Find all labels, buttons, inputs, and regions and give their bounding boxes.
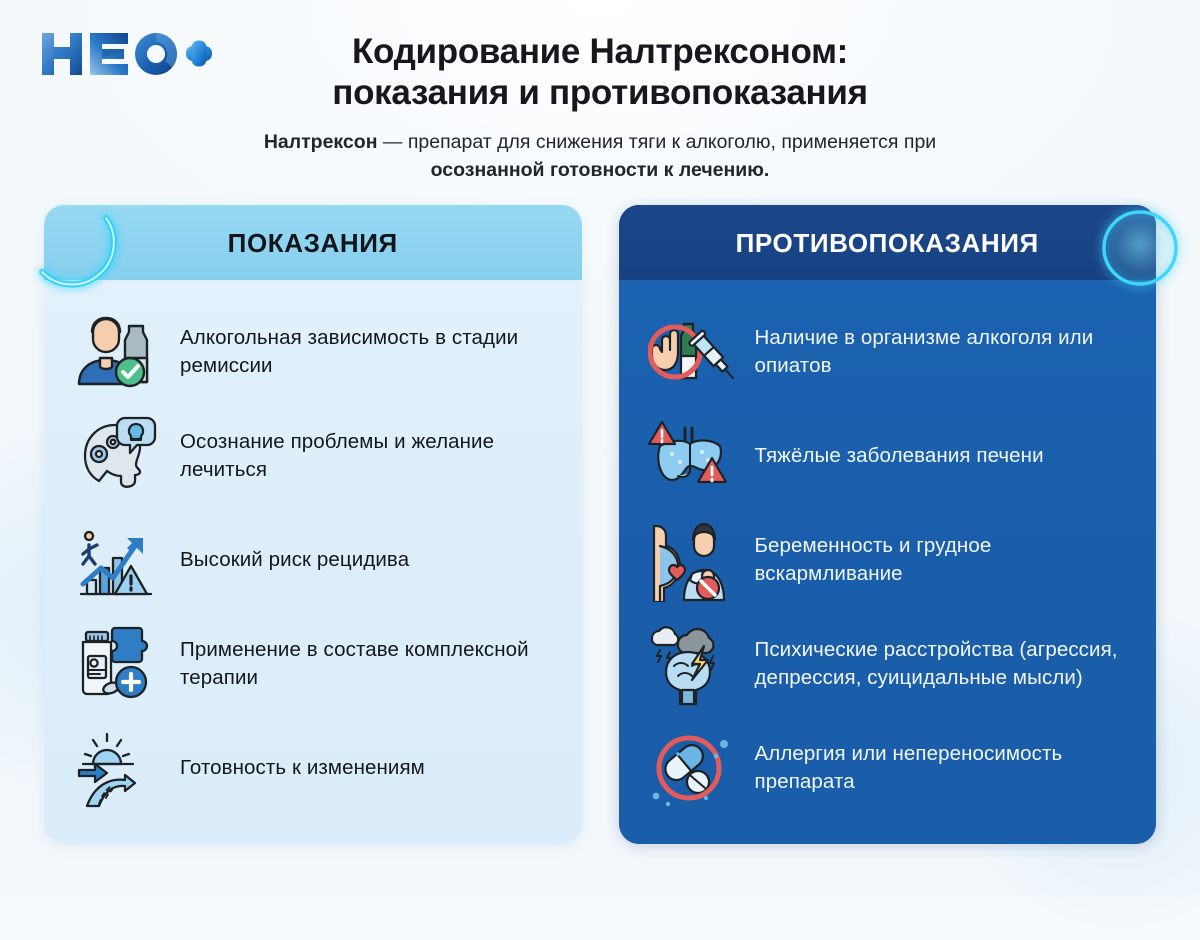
list-item: Психические расстройства (агрессия, депр… bbox=[645, 612, 1131, 716]
contraindications-list: Наличие в организме алкоголя или опиатов bbox=[619, 280, 1157, 844]
indications-card: ПОКАЗАНИЯ bbox=[44, 205, 582, 844]
list-item-label: Тяжёлые заболевания печени bbox=[755, 442, 1044, 470]
no-alcohol-syringe-icon bbox=[645, 309, 737, 395]
list-item: Беременность и грудное вскармливание bbox=[645, 508, 1131, 612]
page-title-line-2: показания и противопоказания bbox=[150, 73, 1050, 114]
liver-warning-icon bbox=[645, 413, 737, 499]
list-item-label: Наличие в организме алкоголя или опиатов bbox=[755, 324, 1131, 380]
comparison-cards: ПОКАЗАНИЯ bbox=[0, 205, 1200, 844]
pregnancy-breastfeeding-icon bbox=[645, 517, 737, 603]
medicine-puzzle-plus-icon bbox=[70, 621, 162, 707]
list-item-label: Беременность и грудное вскармливание bbox=[755, 532, 1131, 588]
list-item: Тяжёлые заболевания печени bbox=[645, 404, 1131, 508]
brand-logo bbox=[36, 24, 214, 84]
list-item-label: Аллергия или непереносимость препарата bbox=[755, 740, 1131, 796]
list-item: Алкогольная зависимость в стадии ремисси… bbox=[70, 300, 556, 404]
head-gears-idea-icon bbox=[70, 413, 162, 499]
subtitle-middle: — препарат для снижения тяги к алкоголю,… bbox=[377, 131, 936, 153]
subtitle-lead: Налтрексон bbox=[264, 131, 378, 153]
list-item-label: Готовность к изменениям bbox=[180, 754, 425, 782]
brain-storm-icon bbox=[645, 621, 737, 707]
rising-chart-risk-icon bbox=[70, 517, 162, 603]
sunrise-road-arrow-icon bbox=[70, 725, 162, 811]
list-item: Применение в составе комплексной терапии bbox=[70, 612, 556, 716]
list-item-label: Высокий риск рецидива bbox=[180, 546, 409, 574]
list-item-label: Применение в составе комплексной терапии bbox=[180, 636, 556, 692]
page-title-line-1: Кодирование Налтрексоном: bbox=[150, 32, 1050, 73]
list-item: Осознание проблемы и желание лечиться bbox=[70, 404, 556, 508]
page-header: Кодирование Налтрексоном: показания и пр… bbox=[0, 0, 1200, 185]
contraindications-card: ПРОТИВОПОКАЗАНИЯ bbox=[619, 205, 1157, 844]
subtitle-emphasis: осознанной готовности к лечению. bbox=[431, 159, 770, 181]
list-item-label: Осознание проблемы и желание лечиться bbox=[180, 428, 556, 484]
list-item: Аллергия или непереносимость препарата bbox=[645, 716, 1131, 820]
person-bottle-check-icon bbox=[70, 309, 162, 395]
no-pills-allergy-icon bbox=[645, 725, 737, 811]
list-item-label: Психические расстройства (агрессия, депр… bbox=[755, 636, 1131, 692]
indications-list: Алкогольная зависимость в стадии ремисси… bbox=[44, 280, 582, 844]
list-item: Готовность к изменениям bbox=[70, 716, 556, 820]
list-item-label: Алкогольная зависимость в стадии ремисси… bbox=[180, 324, 556, 380]
indications-heading: ПОКАЗАНИЯ bbox=[44, 205, 582, 280]
contraindications-heading: ПРОТИВОПОКАЗАНИЯ bbox=[619, 205, 1157, 280]
list-item: Наличие в организме алкоголя или опиатов bbox=[645, 300, 1131, 404]
page-subtitle: Налтрексон — препарат для снижения тяги … bbox=[0, 129, 1200, 184]
list-item: Высокий риск рецидива bbox=[70, 508, 556, 612]
